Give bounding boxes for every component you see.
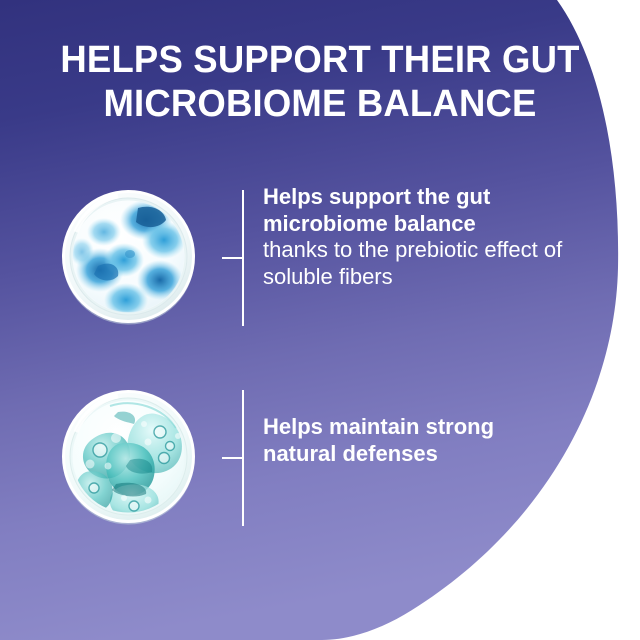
benefit-tail: thanks to the prebiotic effect of solubl… (263, 237, 563, 290)
petri-dish-bacterial-colonies-icon (60, 188, 197, 325)
benefit-text: Helps maintain strong natural defenses (263, 414, 563, 467)
benefit-row: Helps maintain strong natural defenses (0, 378, 640, 538)
benefit-lead: Helps maintain strong natural defenses (263, 414, 563, 467)
connector-line (222, 390, 244, 526)
connector-tick (222, 457, 244, 459)
poster-canvas: HELPS SUPPORT THEIR GUT MICROBIOME BALAN… (0, 0, 640, 640)
connector-line (222, 190, 244, 326)
benefit-row: Helps support the gut microbiome balance… (0, 178, 640, 338)
connector-tick (222, 257, 244, 259)
benefit-text: Helps support the gut microbiome balance… (263, 184, 563, 290)
petri-dish-gel-bubbles-icon (60, 388, 197, 525)
page-title: HELPS SUPPORT THEIR GUT MICROBIOME BALAN… (13, 38, 627, 126)
benefit-lead: Helps support the gut microbiome balance (263, 184, 563, 237)
